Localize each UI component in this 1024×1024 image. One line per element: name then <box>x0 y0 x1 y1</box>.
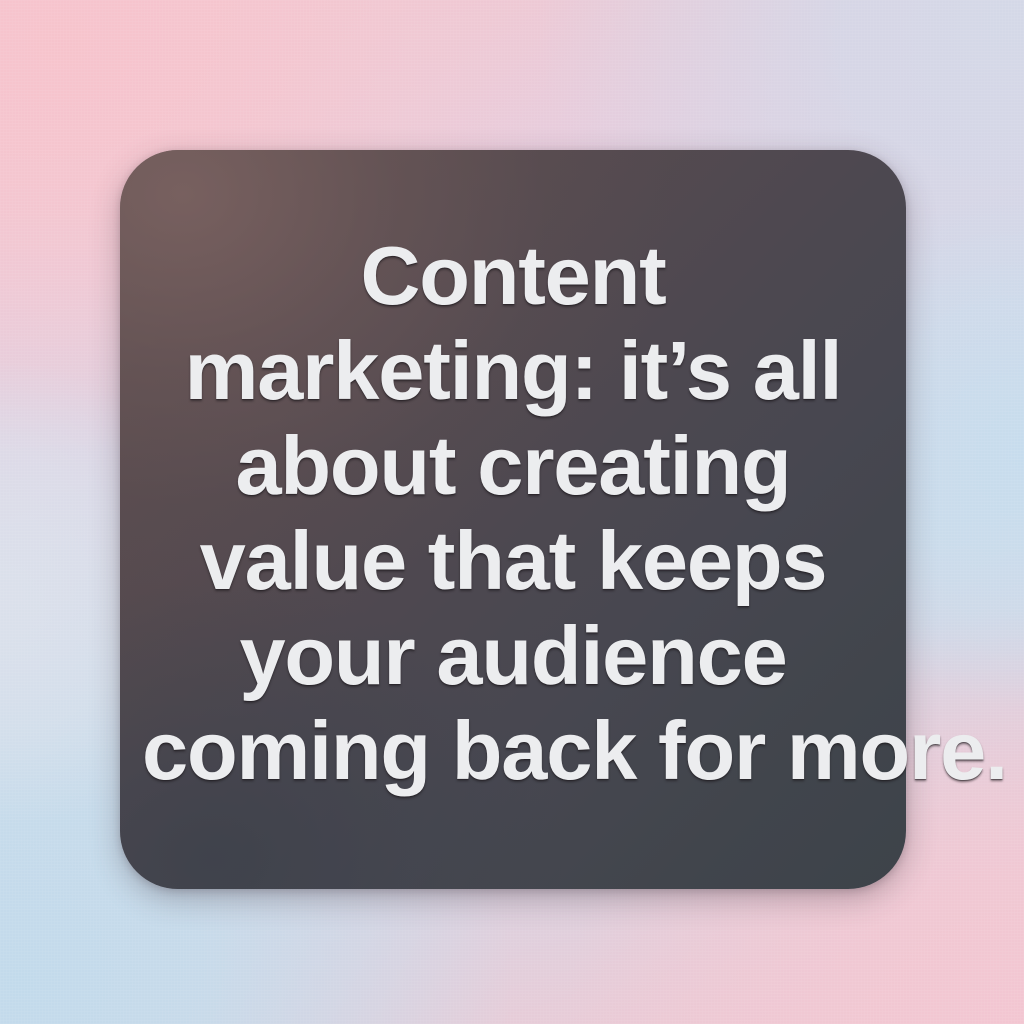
image-canvas: Content marketing: it’s all about creati… <box>0 0 1024 1024</box>
quote-card <box>120 150 906 889</box>
